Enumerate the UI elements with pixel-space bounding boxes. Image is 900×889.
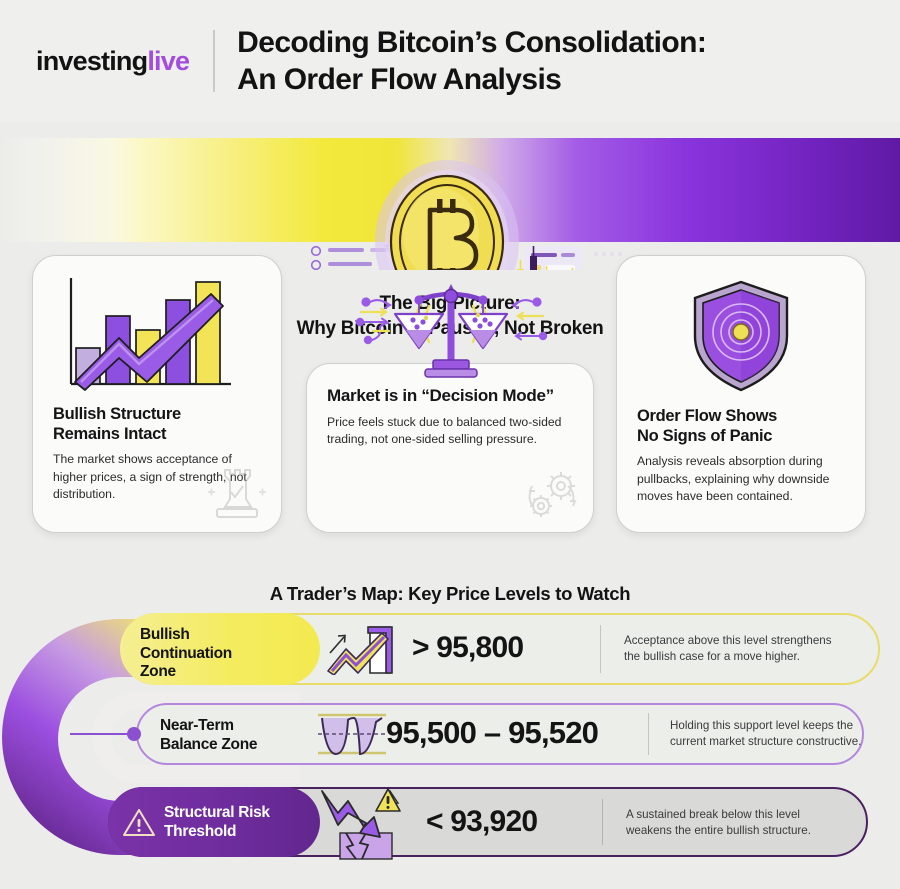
row-bullish-continuation-zone[interactable]: Bullish Continuation Zone > 95,800 Accep… — [120, 613, 880, 685]
row-3-zone-line-2: Threshold — [164, 823, 324, 842]
card-order-flow[interactable]: Order Flow Shows No Signs of Panic Analy… — [616, 255, 866, 533]
downtrend-crack-icon — [320, 783, 408, 861]
infographic-page: investinglive Decoding Bitcoin’s Consoli… — [0, 0, 900, 889]
card-right-title-line-2: No Signs of Panic — [637, 426, 849, 446]
row-2-connector — [70, 721, 148, 747]
card-decision-mode[interactable]: Market is in “Decision Mode” Price feels… — [306, 363, 594, 533]
row-3-price: < 93,920 — [426, 805, 537, 839]
scale-body — [395, 284, 507, 377]
row-3-note-line-1: A sustained break below this level — [626, 807, 866, 823]
row-2-note-line-1: Holding this support level keeps the — [670, 718, 900, 734]
row-1-zone-line-3: Zone — [140, 663, 310, 682]
card-left-title-line-2: Remains Intact — [53, 424, 267, 444]
page-title: Decoding Bitcoin’s Consolidation: An Ord… — [237, 24, 706, 98]
card-center-text: Market is in “Decision Mode” Price feels… — [327, 386, 577, 448]
flow-arrows-right — [513, 298, 546, 339]
hero-artwork: + + — [0, 110, 900, 270]
row-1-note-line-1: Acceptance above this level strengthens — [624, 633, 870, 649]
row-1-divider — [600, 625, 601, 673]
flow-arrows-left — [357, 298, 390, 343]
row-2-note: Holding this support level keeps the cur… — [670, 718, 900, 750]
card-right-body: Analysis reveals absorption during pullb… — [637, 453, 849, 505]
card-left-title: Bullish Structure Remains Intact — [53, 404, 267, 444]
row-1-note: Acceptance above this level strengthens … — [624, 633, 870, 665]
row-1-zone-line-1: Bullish — [140, 626, 310, 645]
row-2-price: 95,500 – 95,520 — [386, 715, 598, 751]
page-title-line-1: Decoding Bitcoin’s Consolidation: — [237, 24, 706, 61]
row-1-price: > 95,800 — [412, 631, 523, 665]
row-2-zone-line-2: Balance Zone — [160, 736, 320, 755]
header: investinglive Decoding Bitcoin’s Consoli… — [0, 0, 900, 122]
balance-scale-icon — [351, 274, 551, 382]
traders-map-heading: A Trader’s Map: Key Price Levels to Watc… — [0, 583, 900, 605]
card-right-text: Order Flow Shows No Signs of Panic Analy… — [637, 406, 849, 505]
header-divider — [213, 30, 215, 92]
card-center-body: Price feels stuck due to balanced two-si… — [327, 414, 577, 449]
range-wave-icon — [316, 710, 388, 758]
shield-radar-icon — [685, 276, 797, 396]
chess-rook-check-icon — [201, 462, 273, 526]
uptrend-arrow-chart-icon — [324, 623, 396, 675]
brand-logo[interactable]: investinglive — [36, 48, 189, 75]
row-2-zone-line-1: Near-Term — [160, 717, 320, 736]
warning-triangle-icon — [122, 807, 156, 838]
row-2-zone-label: Near-Term Balance Zone — [160, 717, 320, 754]
card-center-title: Market is in “Decision Mode” — [327, 386, 577, 407]
card-right-title: Order Flow Shows No Signs of Panic — [637, 406, 849, 446]
row-1-zone-line-2: Continuation — [140, 645, 310, 664]
gears-icon — [517, 466, 583, 524]
row-3-zone-label: Structural Risk Threshold — [164, 804, 324, 841]
bar-chart-uptrend-icon — [51, 272, 237, 398]
row-2-note-line-2: current market structure constructive. — [670, 734, 900, 750]
page-title-line-2: An Order Flow Analysis — [237, 61, 706, 98]
logo-primary-text: investing — [36, 46, 147, 76]
row-1-note-line-2: the bullish case for a move higher. — [624, 649, 870, 665]
row-3-divider — [602, 799, 603, 845]
traders-map-section: A Trader’s Map: Key Price Levels to Watc… — [0, 575, 900, 889]
row-3-note-line-2: weakens the entire bullish structure. — [626, 823, 866, 839]
big-picture-section: The Big Picture: Why Bitcoin is Paused, … — [0, 250, 900, 570]
logo-accent-text: live — [147, 46, 189, 76]
hero-banner: + + — [0, 110, 900, 270]
row-2-divider — [648, 713, 649, 755]
row-near-term-balance-zone[interactable]: Near-Term Balance Zone 95,500 – 95,520 H… — [136, 703, 864, 765]
card-bullish-structure[interactable]: Bullish Structure Remains Intact The mar… — [32, 255, 282, 533]
card-left-title-line-1: Bullish Structure — [53, 404, 267, 424]
card-right-title-line-1: Order Flow Shows — [637, 406, 849, 426]
row-3-zone-line-1: Structural Risk — [164, 804, 324, 823]
row-1-zone-label: Bullish Continuation Zone — [140, 626, 310, 682]
row-structural-risk-threshold[interactable]: Structural Risk Threshold < 93,920 A sus… — [108, 787, 868, 857]
row-3-note: A sustained break below this level weake… — [626, 807, 866, 839]
